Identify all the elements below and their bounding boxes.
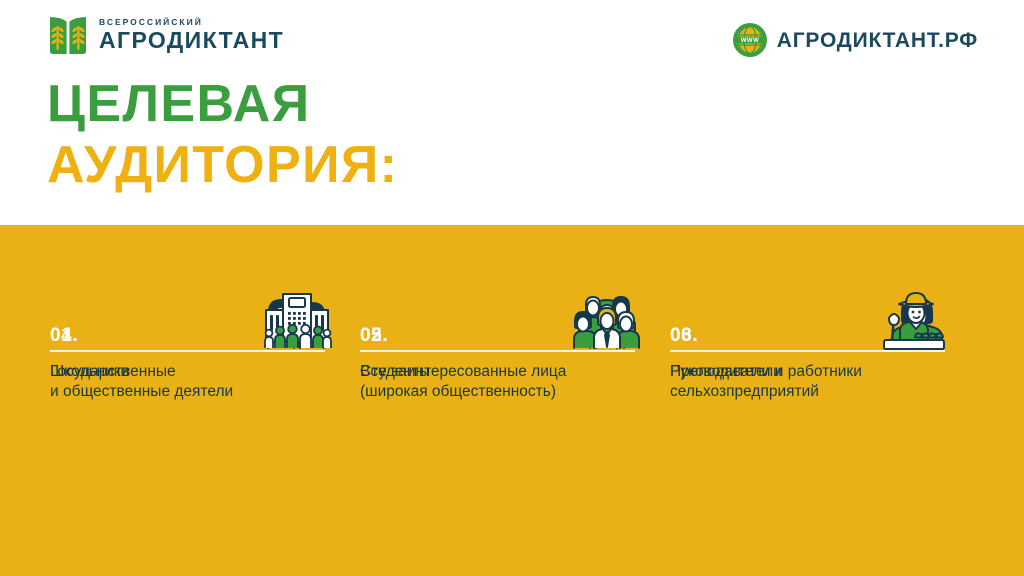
audience-label: Руководители и работники сельхозпредприя… [670, 362, 862, 402]
divider [670, 350, 945, 352]
brand-name: АГРОДИКТАНТ [99, 29, 284, 52]
page-title-line-1: ЦЕЛЕВАЯ [47, 78, 398, 131]
audience-number: 05. [360, 325, 388, 347]
group-of-people-icon [572, 288, 642, 350]
audience-label: Государственные и общественные деятели [50, 362, 233, 402]
audience-number: 04. [50, 325, 78, 347]
government-building-icon [262, 288, 332, 350]
header-area: ВСЕРОССИЙСКИЙ АГРОДИКТАНТ WWW АГРОДИКТАН… [0, 0, 1024, 225]
divider [360, 350, 635, 352]
globe-www-icon: WWW [732, 22, 768, 58]
divider [50, 350, 325, 352]
site-logo-agrodiktant-rf[interactable]: WWW АГРОДИКТАНТ.РФ [732, 22, 978, 58]
site-name: АГРОДИКТАНТ.РФ [777, 30, 978, 51]
audience-grid: 01. Школьники [50, 249, 980, 374]
audience-number: 06. [670, 325, 698, 347]
farmer-icon [882, 288, 952, 350]
audience-label: Все заинтересованные лица (широкая общес… [360, 362, 566, 402]
audience-section: 01. Школьники [0, 225, 1024, 576]
page-title: ЦЕЛЕВАЯ АУДИТОРИЯ: [47, 78, 398, 192]
page-title-line-2: АУДИТОРИЯ: [47, 139, 398, 192]
brand-logo-agrodiktant[interactable]: ВСЕРОССИЙСКИЙ АГРОДИКТАНТ [47, 13, 284, 57]
wheat-book-icon [47, 13, 89, 57]
svg-text:WWW: WWW [741, 37, 759, 44]
brand-tagline: ВСЕРОССИЙСКИЙ [99, 18, 284, 27]
